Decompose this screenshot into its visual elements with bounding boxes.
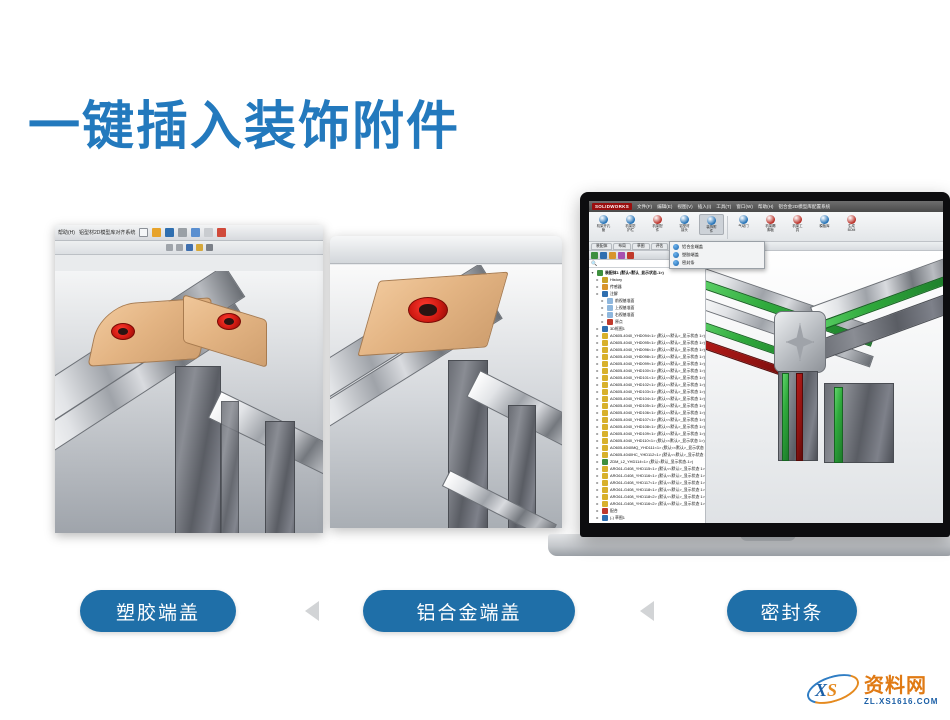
tree-node-label: AO605-4040_YHD106<1> (默认<<默认>_显示状态 1>) [610, 409, 705, 416]
ribbon-label: 铝型材 接头 [679, 225, 689, 233]
tree-node-label: AO605-4040_YHD094<1> (默认<<默认>_显示状态 1>) [610, 332, 705, 339]
expand-toggle-icon[interactable]: ▾ [590, 269, 595, 276]
part-icon [602, 410, 608, 416]
expand-toggle-icon[interactable]: ▸ [595, 290, 600, 297]
bullet-icon [673, 260, 679, 266]
tree-node[interactable]: ▸传感器 [590, 283, 705, 290]
tree-node-label: (-) 草图1 [610, 514, 625, 521]
ribbon-icon [766, 215, 775, 224]
left-doc-title: 铝型材2D模型库对齐系统 [79, 229, 135, 236]
plane-icon [607, 305, 613, 311]
tree-node-label: ARG61-G408_YHD118<1> (默认<<默认>_显示状态 1>) [610, 486, 705, 493]
ribbon-button-4[interactable]: 装饰附 件 [699, 214, 724, 235]
expand-toggle-icon[interactable]: ▸ [600, 304, 605, 311]
tree-node[interactable]: ▸ARG61-G408_YHD116<2> (默认<<默认>_显示状态 1>) [590, 500, 705, 507]
ribbon-icon [820, 215, 829, 224]
ribbon-label: 机架踢 脚板 [765, 225, 775, 233]
ribbon-icon [707, 216, 716, 225]
rotate-icon[interactable] [186, 244, 193, 251]
tree-node[interactable]: ▸AO605-4040_YHD105<1> (默认<<默认>_显示状态 1>) [590, 402, 705, 409]
plane-icon [607, 298, 613, 304]
undo-icon[interactable] [191, 228, 200, 237]
tree-node-label: 前视基准面 [615, 297, 634, 304]
expand-toggle-icon[interactable]: ▸ [595, 514, 600, 521]
solidworks-ribbon: 机架开孔 管机架防 护栏机架配 件铝型材 接头装饰附 件气动门机架踢 脚板机架工… [589, 212, 943, 242]
ribbon-label: 装饰附 件 [706, 226, 716, 234]
tree-node-label: 3D框图1 [610, 325, 625, 332]
expand-toggle-icon[interactable]: ▸ [595, 409, 600, 416]
part-icon [602, 466, 608, 472]
expand-toggle-icon[interactable]: ▸ [595, 493, 600, 500]
mate-icon [602, 508, 608, 514]
left-window-toolbar: 帮助(H) 铝型材2D模型库对齐系统 [55, 225, 323, 241]
plastic-cap-window: 帮助(H) 铝型材2D模型库对齐系统 [55, 225, 323, 533]
tree-node-label: 原点 [615, 318, 623, 325]
slide-root: 一键插入装饰附件 帮助(H) 铝型材2D模型库对齐系统 [0, 0, 950, 720]
tree-node[interactable]: ▸上视基准面 [590, 304, 705, 311]
xs-logo-icon: XS [806, 674, 860, 708]
tree-node[interactable]: ▸注解 [590, 290, 705, 297]
part-icon [602, 494, 608, 500]
expand-toggle-icon[interactable]: ▸ [595, 332, 600, 339]
tree-node[interactable]: ▸AO605-4040_YHD107<1> (默认<<默认>_显示状态 1>) [590, 416, 705, 423]
tree-node[interactable]: ▸ARG61-G408_YHD118<2> (默认<<默认>_显示状态 1>) [590, 493, 705, 500]
separator-arrow-icon [305, 601, 319, 621]
expand-toggle-icon[interactable]: ▸ [595, 353, 600, 360]
tree-node-label: 上视基准面 [615, 304, 634, 311]
ribbon-button-7[interactable]: 机架工 具 [785, 214, 810, 233]
expand-toggle-icon[interactable]: ▸ [595, 430, 600, 437]
open-icon[interactable] [152, 228, 161, 237]
part-icon [602, 473, 608, 479]
ribbon-button-0[interactable]: 机架开孔 管 [591, 214, 616, 233]
tree-node-label: AO605-4040_YHD099<1> (默认<<默认>_显示状态 1>) [610, 360, 705, 367]
expand-toggle-icon[interactable]: ▸ [595, 451, 600, 458]
separator-arrow-icon [640, 601, 654, 621]
tree-node-label: ARG61-G408_YHD117<1> (默认<<默认>_显示状态 1>) [610, 479, 705, 486]
button-plastic-end-cap[interactable]: 塑胶端盖 [80, 590, 236, 632]
button-aluminium-end-cap[interactable]: 铝合金端盖 [363, 590, 575, 632]
left-window-view-toolbar [55, 241, 323, 255]
watermark: XS 资料网 ZL.XS1616.COM [806, 668, 942, 714]
ribbon-icon [739, 215, 748, 224]
annotation-icon [602, 291, 608, 297]
tree-node[interactable]: ▸AO605-4040_YHD100<1> (默认<<默认>_显示状态 1>) [590, 367, 705, 374]
feature-tree-pane: 🔍 ▾装配体1 (默认<默认_显示状态-1>)▸History▸传感器▸注解▸前… [589, 251, 706, 523]
rebuild-icon[interactable] [204, 228, 213, 237]
ribbon-button-8[interactable]: 模板库 [812, 214, 837, 229]
tree-node[interactable]: ▸ZDM_L2_YHD114<1> (默认<默认_显示状态-1>) [590, 458, 705, 465]
expand-toggle-icon[interactable]: ▸ [595, 479, 600, 486]
assembly-icon [597, 270, 603, 276]
ribbon-button-9[interactable]: 生成 BOM [839, 214, 864, 233]
tree-node[interactable]: ▸AO605-4040_YHD101<1> (默认<<默认>_显示状态 1>) [590, 374, 705, 381]
tree-node[interactable]: ▸AO605-4040MQ_YHD111<1> (默认<<默认>_显示状态 1>… [590, 444, 705, 451]
laptop-mockup: SOLIDWORKS 文件(F) 编辑(E) 视图(V) 插入(I) 工具(T)… [520, 192, 950, 570]
ribbon-label: 气动门 [738, 225, 748, 229]
expand-toggle-icon[interactable]: ▸ [595, 339, 600, 346]
tree-node[interactable]: ▸AO605-4040_YHD098<1> (默认<<默认>_显示状态 1>) [590, 353, 705, 360]
ribbon-label: 机架配 件 [652, 225, 662, 233]
tree-node[interactable]: ▸AO605-4040_YHD094<1> (默认<<默认>_显示状态 1>) [590, 332, 705, 339]
tree-node[interactable]: ▸右视基准面 [590, 311, 705, 318]
solidworks-window: SOLIDWORKS 文件(F) 编辑(E) 视图(V) 插入(I) 工具(T)… [589, 201, 943, 523]
menu-help[interactable]: 帮助(H) [758, 204, 774, 210]
dropdown-label: 塑胶端盖 [682, 252, 699, 258]
expand-toggle-icon[interactable]: ▸ [595, 367, 600, 374]
part-icon [602, 361, 608, 367]
tree-node[interactable]: ▸AO605-4040_YHD103<1> (默认<<默认>_显示状态 1>) [590, 388, 705, 395]
dropdown-item-seal-strip[interactable]: 密封条 [670, 259, 764, 267]
tree-node[interactable]: ▸ARG61-G408_YHD118<1> (默认<<默认>_显示状态 1>) [590, 486, 705, 493]
expand-toggle-icon[interactable]: ▸ [595, 374, 600, 381]
part-icon [602, 480, 608, 486]
tree-node-label: AO605-4040MQ_YHD111<1> (默认<<默认>_显示状态 1>) [610, 444, 705, 451]
expand-toggle-icon[interactable]: ▸ [595, 388, 600, 395]
expand-toggle-icon[interactable]: ▸ [595, 276, 600, 283]
sketch-icon [602, 515, 608, 521]
appearance-icon[interactable] [609, 252, 616, 259]
tree-node[interactable]: ▸AO605-4040_YHD110<1> (默认<<默认>_显示状态 1>) [590, 437, 705, 444]
ribbon-button-1[interactable]: 机架防 护栏 [618, 214, 643, 233]
watermark-text: 资料网 ZL.XS1616.COM [864, 676, 938, 706]
tree-node-label: AO605-4040_YHD101<1> (默认<<默认>_显示状态 1>) [610, 374, 705, 381]
zoom-out-icon[interactable] [176, 244, 183, 251]
tree-node-label: ARG61-G408_YHD116<2> (默认<<默认>_显示状态 1>) [610, 500, 705, 507]
left-3d-viewport[interactable] [55, 271, 323, 533]
menu-file[interactable]: 文件(F) [637, 204, 652, 210]
part-icon [602, 347, 608, 353]
sketch3d-icon [602, 326, 608, 332]
tree-node-label: AO605-4040_YHD100<1> (默认<<默认>_显示状态 1>) [610, 367, 705, 374]
menu-view[interactable]: 视图(V) [677, 204, 692, 210]
ribbon-icon [793, 215, 802, 224]
feature-tree-list[interactable]: ▾装配体1 (默认<默认_显示状态-1>)▸History▸传感器▸注解▸前视基… [589, 268, 705, 523]
expand-toggle-icon[interactable]: ▸ [595, 402, 600, 409]
watermark-name: 资料网 [864, 676, 938, 696]
expand-toggle-icon[interactable]: ▸ [595, 325, 600, 332]
tree-node-label: AO605-4040_YHD108<1> (默认<<默认>_显示状态 1>) [610, 423, 705, 430]
tree-node[interactable]: ▸AO605-4040_YHD095<1> (默认<<默认>_显示状态 1>) [590, 339, 705, 346]
tree-node[interactable]: ▸3D框图1 [590, 325, 705, 332]
seal-strip-vertical [834, 387, 843, 463]
tree-node[interactable]: ▸History [590, 276, 705, 283]
part-icon [602, 487, 608, 493]
part-icon [602, 403, 608, 409]
tree-node-label: 右视基准面 [615, 311, 634, 318]
extrusion-beam-vertical [175, 366, 221, 533]
tree-node[interactable]: ▸ARG61-G408_YHD117<1> (默认<<默认>_显示状态 1>) [590, 479, 705, 486]
ribbon-button-5[interactable]: 气动门 [731, 214, 756, 229]
tree-node-label: 配合 [610, 507, 618, 514]
part-icon [602, 368, 608, 374]
dropdown-item-aluminium-cap[interactable]: 铝合金端盖 [670, 243, 764, 251]
history-icon [602, 277, 608, 283]
solidworks-body: 🔍 ▾装配体1 (默认<默认_显示状态-1>)▸History▸传感器▸注解▸前… [589, 251, 943, 523]
options-icon[interactable] [217, 228, 226, 237]
button-seal-strip[interactable]: 密封条 [727, 590, 857, 632]
expand-toggle-icon[interactable]: ▸ [595, 395, 600, 402]
expand-toggle-icon[interactable]: ▸ [595, 283, 600, 290]
display-pane-icon[interactable] [600, 252, 607, 259]
tree-node[interactable]: ▸AO605-4040_YHD099<1> (默认<<默认>_显示状态 1>) [590, 360, 705, 367]
expand-toggle-icon[interactable]: ▸ [595, 472, 600, 479]
expand-toggle-icon[interactable]: ▸ [595, 437, 600, 444]
part-icon [602, 375, 608, 381]
solidworks-menubar: SOLIDWORKS 文件(F) 编辑(E) 视图(V) 插入(I) 工具(T)… [589, 201, 943, 212]
tree-node-label: 传感器 [610, 283, 622, 290]
watermark-url: ZL.XS1616.COM [864, 698, 938, 706]
tree-node-label: 装配体1 (默认<默认_显示状态-1>) [605, 269, 664, 276]
part-icon [602, 445, 608, 451]
tree-node[interactable]: ▸AO605-4040_YHD109<1> (默认<<默认>_显示状态 1>) [590, 430, 705, 437]
tree-node[interactable]: ▸AO605-4040HC_YHD112<1> (默认<<默认>_显示状态 1>… [590, 451, 705, 458]
command-tab-0[interactable]: 装配体 [591, 243, 612, 250]
ribbon-button-3[interactable]: 铝型材 接头 [672, 214, 697, 233]
tree-node[interactable]: ▸AO605-4040_YHD104<1> (默认<<默认>_显示状态 1>) [590, 395, 705, 402]
tree-node[interactable]: ▸AO605-4040_YHD106<1> (默认<<默认>_显示状态 1>) [590, 409, 705, 416]
menu-window[interactable]: 窗口(W) [736, 204, 753, 210]
tree-node-label: AO605-4040_YHD102<1> (默认<<默认>_显示状态 1>) [610, 381, 705, 388]
part-icon [602, 424, 608, 430]
tree-node[interactable]: ▸ARG61-G408_YHD115<1> (默认<<默认>_显示状态 1>) [590, 465, 705, 472]
expand-toggle-icon[interactable]: ▸ [595, 458, 600, 465]
expand-toggle-icon[interactable]: ▸ [600, 318, 605, 325]
menu-tools[interactable]: 工具(T) [716, 204, 731, 210]
ribbon-separator [727, 216, 728, 239]
tree-node[interactable]: ▸AO605-4040_YHD102<1> (默认<<默认>_显示状态 1>) [590, 381, 705, 388]
print-icon[interactable] [178, 228, 187, 237]
sensor-icon [602, 284, 608, 290]
ribbon-label: 模板库 [819, 225, 829, 229]
ribbon-button-2[interactable]: 机架配 件 [645, 214, 670, 233]
tree-node-label: AO605-4040_YHD109<1> (默认<<默认>_显示状态 1>) [610, 430, 705, 437]
search-icon: 🔍 [591, 261, 597, 267]
tree-node-label: AO605-4040_YHD095<1> (默认<<默认>_显示状态 1>) [610, 339, 705, 346]
zoom-in-icon[interactable] [166, 244, 173, 251]
command-tab-1[interactable]: 布局 [613, 243, 631, 250]
ribbon-label: 机架开孔 管 [597, 225, 611, 233]
tree-node-label: ARG61-G408_YHD118<2> (默认<<默认>_显示状态 1>) [610, 493, 705, 500]
tree-node-label: ZDM_L2_YHD114<1> (默认<默认_显示状态-1>) [610, 458, 693, 465]
ribbon-icon [847, 215, 856, 224]
decor-accessory-dropdown[interactable]: 铝合金端盖 塑胶端盖 密封条 [669, 241, 765, 269]
dropdown-item-plastic-cap[interactable]: 塑胶端盖 [670, 251, 764, 259]
section-icon[interactable] [196, 244, 203, 251]
expand-toggle-icon[interactable]: ▸ [595, 381, 600, 388]
part-icon [602, 396, 608, 402]
appearance-icon[interactable] [206, 244, 213, 251]
part-icon [602, 389, 608, 395]
ribbon-icon [599, 215, 608, 224]
expand-toggle-icon[interactable]: ▸ [595, 416, 600, 423]
accessory-button-row: 塑胶端盖 铝合金端盖 密封条 [0, 590, 950, 635]
screw-hole [408, 297, 448, 323]
laptop-base [548, 534, 950, 556]
laptop-lid: SOLIDWORKS 文件(F) 编辑(E) 视图(V) 插入(I) 工具(T)… [580, 192, 950, 537]
expand-toggle-icon[interactable]: ▸ [595, 465, 600, 472]
page-title: 一键插入装饰附件 [28, 84, 460, 159]
bullet-icon [673, 252, 679, 258]
dropdown-label: 铝合金端盖 [682, 244, 703, 250]
ribbon-label: 生成 BOM [848, 225, 856, 233]
assembly-tree-icon[interactable] [591, 252, 598, 259]
part-icon [602, 417, 608, 423]
ribbon-button-6[interactable]: 机架踢 脚板 [758, 214, 783, 233]
expand-toggle-icon[interactable]: ▸ [600, 297, 605, 304]
screw-hole [217, 313, 241, 330]
configuration-icon[interactable] [618, 252, 625, 259]
expand-toggle-icon[interactable]: ▸ [595, 507, 600, 514]
menu-insert[interactable]: 插入(I) [698, 204, 712, 210]
part-icon [602, 431, 608, 437]
part-icon [602, 333, 608, 339]
expand-toggle-icon[interactable]: ▸ [595, 346, 600, 353]
sw-title-text: 铝合金2D模型库配置系统 [778, 204, 830, 210]
tree-node[interactable]: ▸配合 [590, 507, 705, 514]
extrusion-beam-back [221, 401, 239, 533]
tree-node-label: AO605-4040_YHD105<1> (默认<<默认>_显示状态 1>) [610, 402, 705, 409]
graphics-viewport[interactable] [706, 251, 943, 523]
menu-edit[interactable]: 编辑(E) [657, 204, 672, 210]
tree-node-label: History [610, 276, 622, 283]
bullet-icon [673, 244, 679, 250]
tree-node-label: AO605-4040_YHD103<1> (默认<<默认>_显示状态 1>) [610, 388, 705, 395]
expand-toggle-icon[interactable]: ▸ [595, 444, 600, 451]
tree-node-label: AO605-4040HC_YHD112<1> (默认<<默认>_显示状态 1>) [610, 451, 705, 458]
ribbon-label: 机架工 具 [792, 225, 802, 233]
ribbon-icon [680, 215, 689, 224]
dropdown-label: 密封条 [682, 260, 695, 266]
logo-text: XS [815, 680, 837, 701]
part-icon [602, 501, 608, 507]
tree-node[interactable]: ▸AO605-4040_YHD108<1> (默认<<默认>_显示状态 1>) [590, 423, 705, 430]
tree-node[interactable]: ▸(-) 草图1 [590, 514, 705, 521]
part-icon [602, 340, 608, 346]
solidworks-logo: SOLIDWORKS [592, 203, 632, 210]
seal-strip-vertical [782, 373, 789, 461]
expand-toggle-icon[interactable]: ▸ [595, 500, 600, 507]
tree-node-label: ARG61-G408_YHD116<1> (默认<<默认>_显示状态 1>) [610, 472, 705, 479]
part-green-icon [602, 459, 608, 465]
command-tab-3[interactable]: 评估 [651, 243, 669, 250]
expand-toggle-icon[interactable]: ▸ [600, 311, 605, 318]
tree-node-label: AO605-4040_YHD104<1> (默认<<默认>_显示状态 1>) [610, 395, 705, 402]
save-icon[interactable] [165, 228, 174, 237]
tree-node[interactable]: ▸前视基准面 [590, 297, 705, 304]
dimxpert-icon[interactable] [627, 252, 634, 259]
screw-hole [111, 323, 135, 340]
extrusion-beam-vertical [265, 421, 295, 533]
expand-toggle-icon[interactable]: ▸ [595, 360, 600, 367]
ribbon-icon [653, 215, 662, 224]
part-icon [602, 382, 608, 388]
origin-icon [607, 319, 613, 325]
part-icon [602, 438, 608, 444]
solidworks-command-tabs: 装配体布局草图评估系列 [589, 242, 943, 251]
part-icon [602, 354, 608, 360]
tree-node[interactable]: ▸原点 [590, 318, 705, 325]
command-tab-2[interactable]: 草图 [632, 243, 650, 250]
tree-node[interactable]: ▸AO605-4040_YHD096<1> (默认<<默认>_显示状态 1>) [590, 346, 705, 353]
tree-node-label: AO605-4040_YHD098<1> (默认<<默认>_显示状态 1>) [610, 353, 705, 360]
tree-node-label: ARG61-G408_YHD115<1> (默认<<默认>_显示状态 1>) [610, 465, 705, 472]
plane-icon [607, 312, 613, 318]
seal-strip-red-vertical [796, 373, 803, 461]
tree-node-label: AO605-4040_YHD110<1> (默认<<默认>_显示状态 1>) [610, 437, 705, 444]
tree-node-label: 注解 [610, 290, 618, 297]
ribbon-label: 机架防 护栏 [625, 225, 635, 233]
part-icon [602, 452, 608, 458]
expand-toggle-icon[interactable]: ▸ [595, 486, 600, 493]
tree-node-label: AO605-4040_YHD096<1> (默认<<默认>_显示状态 1>) [610, 346, 705, 353]
tree-node[interactable]: ▸ARG61-G408_YHD116<1> (默认<<默认>_显示状态 1>) [590, 472, 705, 479]
tree-node-label: AO605-4040_YHD107<1> (默认<<默认>_显示状态 1>) [610, 416, 705, 423]
ribbon-icon [626, 215, 635, 224]
new-doc-icon[interactable] [139, 228, 148, 237]
tree-node[interactable]: ▾装配体1 (默认<默认_显示状态-1>) [590, 269, 705, 276]
expand-toggle-icon[interactable]: ▸ [595, 423, 600, 430]
left-menu-help[interactable]: 帮助(H) [58, 229, 75, 236]
